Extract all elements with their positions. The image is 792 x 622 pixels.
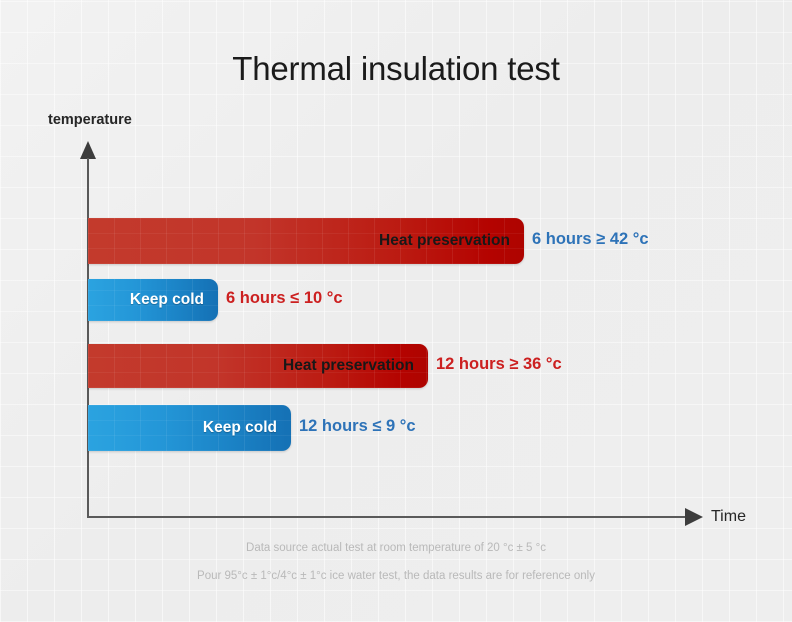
bar-label: Keep cold [203,419,291,437]
bar-keep-cold: Keep cold [88,279,218,321]
y-axis-label: temperature [48,112,132,128]
bar-label: Heat preservation [283,357,428,375]
bar-value-label: 12 hours ≤ 9 °c [299,417,416,436]
bar-row: Keep cold [88,405,291,451]
bar-row: Keep cold [88,279,218,321]
x-axis-label: Time [711,508,746,526]
bar-value-label: 6 hours ≥ 42 °c [532,230,649,249]
bar-label: Keep cold [130,291,218,309]
chart-canvas: Thermal insulation test temperature Time… [0,0,792,622]
chart-title: Thermal insulation test [0,50,792,88]
x-axis-line [87,516,687,518]
bar-value-label: 12 hours ≥ 36 °c [436,355,562,374]
x-axis-arrow-icon [685,508,703,526]
bar-value-label: 6 hours ≤ 10 °c [226,289,343,308]
footnote-line-1: Data source actual test at room temperat… [0,542,792,554]
bar-heat-preservation: Heat preservation [88,344,428,388]
bar-label: Heat preservation [379,232,524,250]
y-axis-arrow-icon [80,141,96,159]
y-axis-line [87,158,89,518]
bar-heat-preservation: Heat preservation [88,218,524,264]
bar-row: Heat preservation [88,344,428,388]
bar-row: Heat preservation [88,218,524,264]
footnote-line-2: Pour 95°c ± 1°c/4°c ± 1°c ice water test… [0,570,792,582]
bar-keep-cold: Keep cold [88,405,291,451]
